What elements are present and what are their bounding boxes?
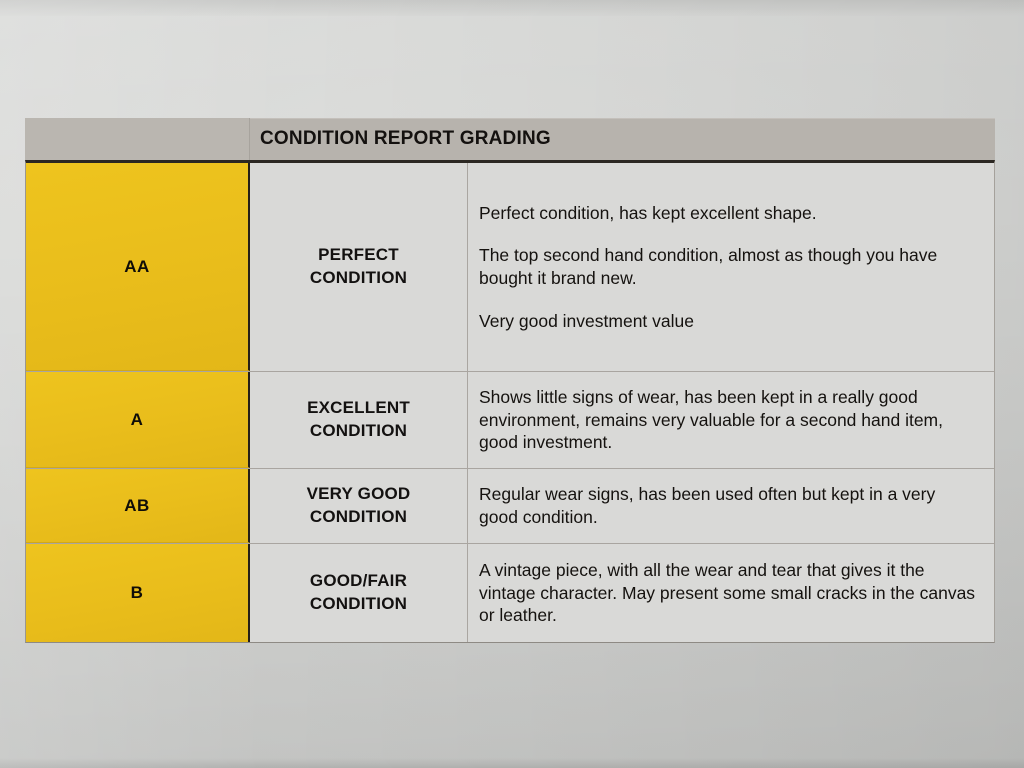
grade-code-b: B: [26, 544, 250, 642]
table-row: AA PERFECT CONDITION Perfect condition, …: [26, 163, 994, 372]
description-ab: Regular wear signs, has been used often …: [468, 469, 994, 543]
condition-label-line2: CONDITION: [310, 506, 407, 529]
grade-code-aa: AA: [26, 163, 250, 371]
sheet-top-edge: [0, 0, 1024, 16]
condition-label-line1: EXCELLENT: [307, 397, 410, 420]
condition-report-grading-table: CONDITION REPORT GRADING AA PERFECT COND…: [25, 118, 995, 643]
description-paragraph: Regular wear signs, has been used often …: [479, 483, 976, 529]
grade-code-ab: AB: [26, 469, 250, 543]
description-aa: Perfect condition, has kept excellent sh…: [468, 163, 994, 371]
table-body: AA PERFECT CONDITION Perfect condition, …: [25, 160, 995, 643]
description-paragraph: Shows little signs of wear, has been kep…: [479, 386, 976, 454]
description-paragraph: Perfect condition, has kept excellent sh…: [479, 202, 976, 225]
table-row: A EXCELLENT CONDITION Shows little signs…: [26, 372, 994, 469]
condition-label-line2: CONDITION: [310, 593, 407, 616]
description-paragraph: A vintage piece, with all the wear and t…: [479, 559, 976, 627]
table-header-row: CONDITION REPORT GRADING: [25, 118, 995, 160]
condition-label-line1: PERFECT: [318, 244, 399, 267]
description-a: Shows little signs of wear, has been kep…: [468, 372, 994, 468]
condition-label-line2: CONDITION: [310, 267, 407, 290]
condition-label-aa: PERFECT CONDITION: [250, 163, 468, 371]
table-row: B GOOD/FAIR CONDITION A vintage piece, w…: [26, 544, 994, 642]
description-b: A vintage piece, with all the wear and t…: [468, 544, 994, 642]
description-paragraph: The top second hand condition, almost as…: [479, 244, 976, 290]
condition-label-line2: CONDITION: [310, 420, 407, 443]
sheet-bottom-edge: [0, 758, 1024, 768]
condition-label-a: EXCELLENT CONDITION: [250, 372, 468, 468]
condition-label-line1: VERY GOOD: [307, 483, 411, 506]
table-row: AB VERY GOOD CONDITION Regular wear sign…: [26, 469, 994, 544]
condition-label-b: GOOD/FAIR CONDITION: [250, 544, 468, 642]
grade-code-a: A: [26, 372, 250, 468]
page-title: CONDITION REPORT GRADING: [250, 118, 995, 160]
condition-label-line1: GOOD/FAIR: [310, 570, 407, 593]
description-paragraph: Very good investment value: [479, 310, 976, 333]
table-header-left-spacer: [25, 118, 250, 160]
condition-label-ab: VERY GOOD CONDITION: [250, 469, 468, 543]
